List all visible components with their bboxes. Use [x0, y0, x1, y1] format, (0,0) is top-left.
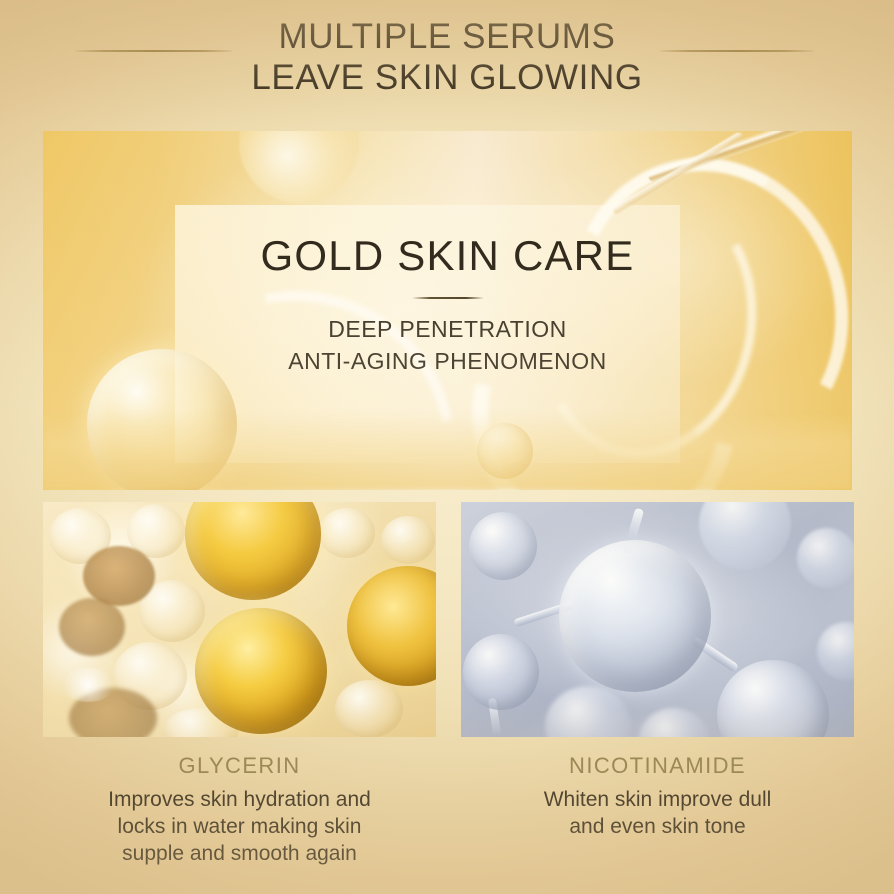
caption-body-nicotinamide: Whiten skin improve dull and even skin t… — [461, 786, 854, 840]
foam-cell — [381, 516, 435, 564]
caption-nicotinamide: NICOTINAMIDE Whiten skin improve dull an… — [461, 752, 854, 840]
headline-rule-left — [75, 50, 232, 52]
foam-cell — [335, 680, 403, 737]
hero-text-group: GOLD SKIN CARE DEEP PENETRATION ANTI-AGI… — [43, 131, 852, 490]
hero-title: GOLD SKIN CARE — [261, 231, 635, 281]
ingredient-image-glycerin — [43, 502, 436, 737]
molecule-sphere — [817, 622, 854, 680]
golden-droplets-photo — [43, 502, 436, 737]
foam-sparkle — [61, 668, 115, 702]
molecule-sphere — [717, 660, 829, 737]
hero-subtitle-line-2: ANTI-AGING PHENOMENON — [288, 345, 606, 377]
amber-droplet — [185, 502, 321, 600]
foam-cell — [319, 508, 375, 558]
hero-divider — [412, 297, 484, 299]
amber-droplet — [347, 566, 436, 686]
headline-rule-right — [660, 50, 814, 52]
headline-block: MULTIPLE SERUMS LEAVE SKIN GLOWING — [0, 16, 894, 98]
molecule-sphere — [639, 708, 709, 737]
caption-title-nicotinamide: NICOTINAMIDE — [461, 752, 854, 780]
promo-canvas: MULTIPLE SERUMS LEAVE SKIN GLOWING GOLD … — [0, 0, 894, 894]
headline-line-2: LEAVE SKIN GLOWING — [0, 57, 894, 98]
molecule-sphere — [469, 512, 537, 580]
hero-subtitle-line-1: DEEP PENETRATION — [328, 313, 566, 345]
molecule-sphere — [797, 528, 854, 588]
honey-blob — [59, 598, 125, 656]
molecule-sphere-primary — [559, 540, 711, 692]
hero-banner: GOLD SKIN CARE DEEP PENETRATION ANTI-AGI… — [43, 131, 852, 490]
silver-molecules-photo — [461, 502, 854, 737]
molecule-sphere — [699, 502, 791, 570]
honey-blob — [83, 546, 155, 606]
caption-title-glycerin: GLYCERIN — [43, 752, 436, 780]
molecule-sphere — [545, 686, 631, 737]
amber-droplet — [195, 608, 327, 734]
ingredient-image-nicotinamide — [461, 502, 854, 737]
caption-body-glycerin: Improves skin hydration and locks in wat… — [43, 786, 436, 867]
molecule-sphere — [463, 634, 539, 710]
caption-glycerin: GLYCERIN Improves skin hydration and loc… — [43, 752, 436, 867]
